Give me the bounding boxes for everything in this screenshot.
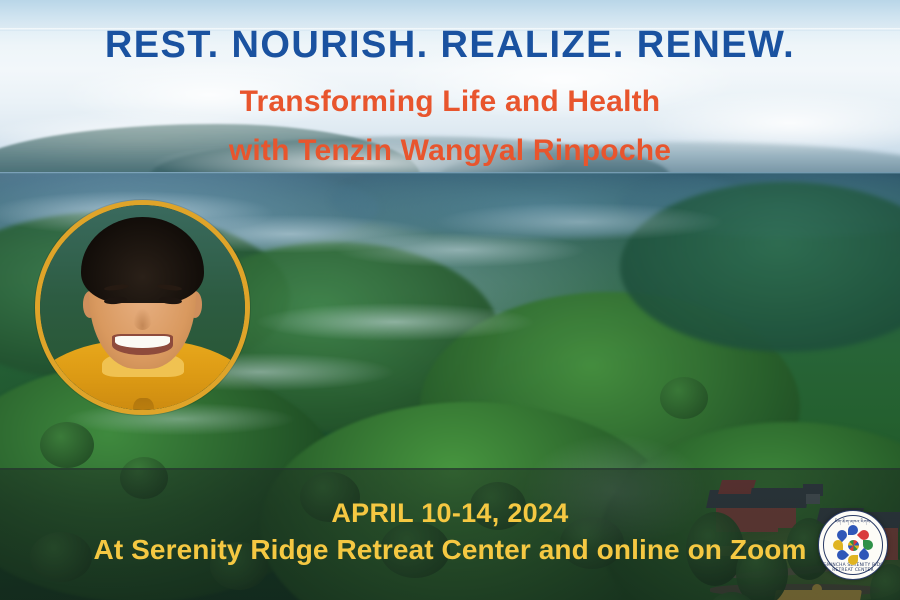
page-title: REST. NOURISH. REALIZE. RENEW.	[0, 24, 900, 67]
smiling-mouth	[112, 334, 174, 355]
valley-mist	[430, 202, 730, 242]
treetop	[40, 422, 94, 468]
valley-mist	[250, 302, 540, 342]
image-seam	[0, 172, 900, 174]
logo-lotus-wheel	[833, 525, 873, 565]
event-venue: At Serenity Ridge Retreat Center and onl…	[0, 534, 900, 566]
promotional-banner: REST. NOURISH. REALIZE. RENEW. Transform…	[0, 0, 900, 600]
valley-mist	[330, 232, 590, 268]
teeth	[115, 336, 169, 349]
nose	[133, 308, 151, 331]
treetop	[660, 377, 708, 419]
event-date: APRIL 10-14, 2024	[0, 498, 900, 529]
subtitle-line-2: with Tenzin Wangyal Rinpoche	[0, 134, 900, 168]
scrim-edge	[0, 468, 900, 470]
portrait-image	[40, 205, 245, 410]
lotus-petal	[848, 555, 858, 565]
organization-logo: ཕིག་མིག་མཁའ་རིགས་ LIGMINCHA SERENITY RID…	[818, 510, 888, 580]
distant-hill	[330, 172, 750, 238]
canopy-mass	[620, 182, 900, 352]
subtitle-line-1: Transforming Life and Health	[0, 85, 900, 119]
lotus-petal	[835, 548, 849, 562]
distant-hill	[620, 172, 900, 238]
logo-hub	[847, 539, 860, 552]
lotus-petal	[857, 548, 871, 562]
robe-fold	[133, 398, 154, 410]
speaker-portrait	[35, 200, 250, 415]
